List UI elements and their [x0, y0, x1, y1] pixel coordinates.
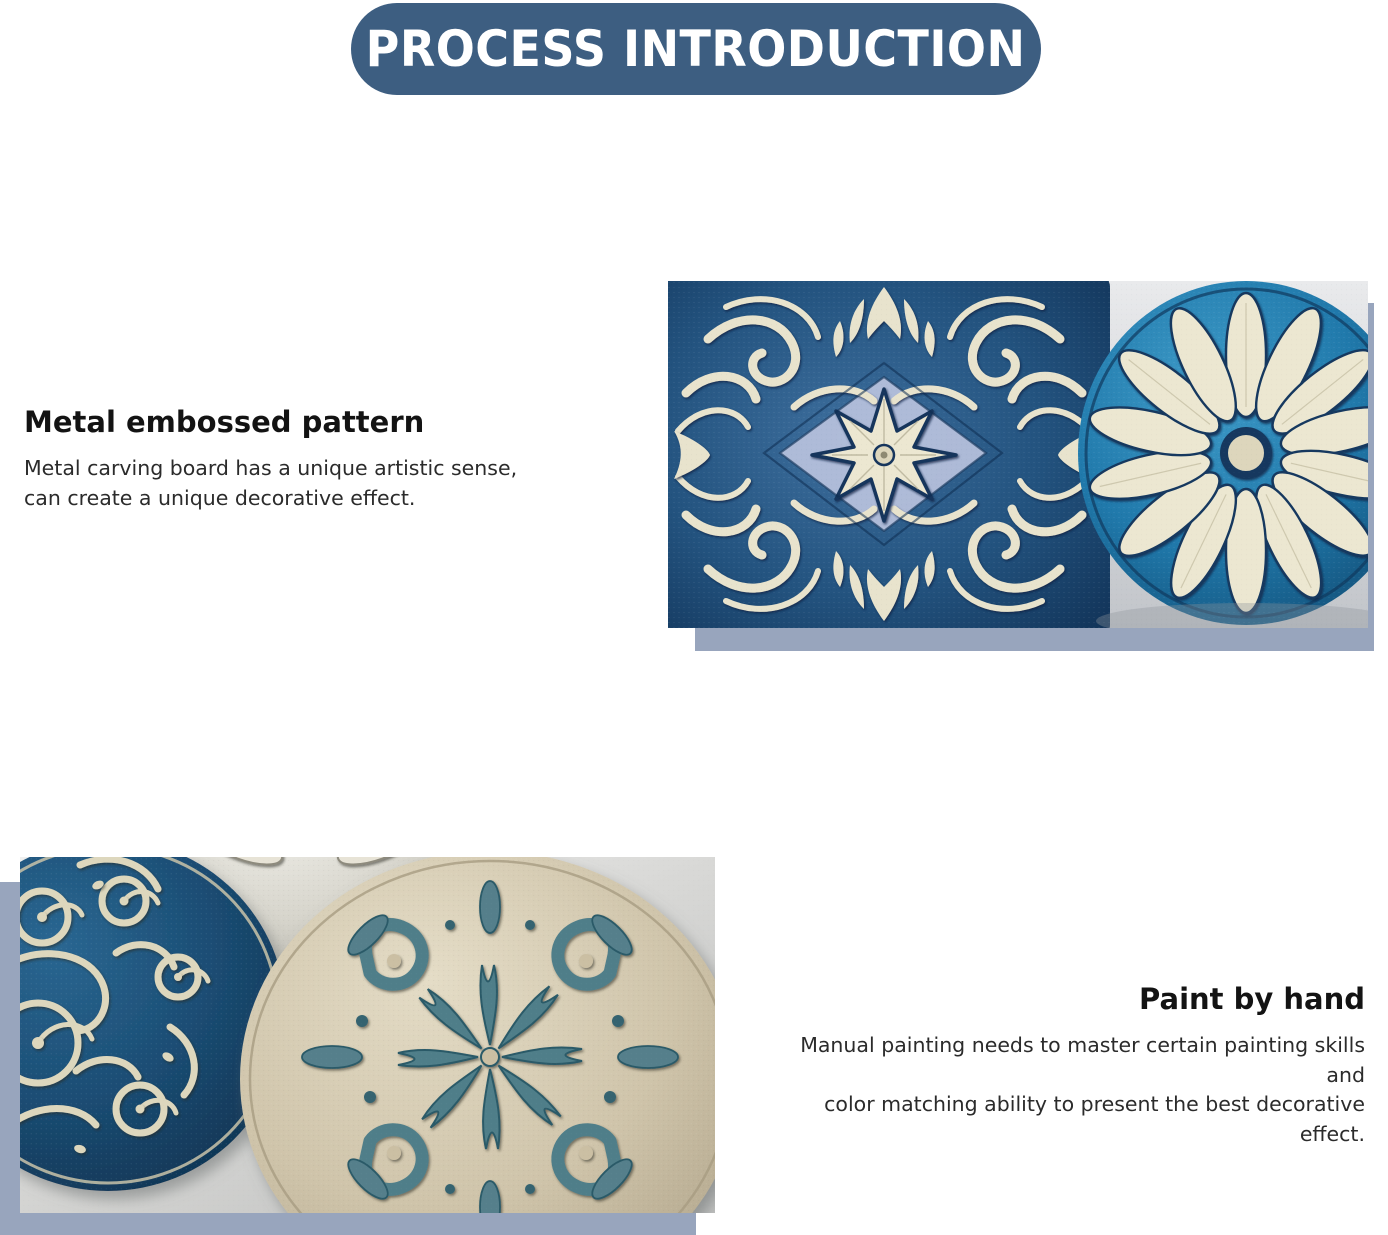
- hand-painted-discs-photo: [20, 857, 715, 1213]
- embossed-blue-tile-photo: [668, 281, 1368, 628]
- section-body-paint-by-hand: Manual painting needs to master certain …: [765, 1031, 1365, 1150]
- section-metal-embossed-pattern-text: Metal embossed pattern Metal carving boa…: [24, 405, 544, 513]
- embossed-blue-tile-artwork: [668, 281, 1368, 628]
- section-heading-metal-embossed-pattern: Metal embossed pattern: [24, 405, 544, 440]
- hand-painted-discs-artwork: [20, 857, 715, 1213]
- figure-paint-by-hand: [0, 857, 715, 1235]
- figure-metal-embossed-pattern: [668, 281, 1374, 651]
- page-title: PROCESS INTRODUCTION: [366, 24, 1026, 74]
- page-title-banner: PROCESS INTRODUCTION: [351, 3, 1041, 95]
- section-body-metal-embossed-pattern: Metal carving board has a unique artisti…: [24, 454, 544, 513]
- section-heading-paint-by-hand: Paint by hand: [765, 982, 1365, 1017]
- section-paint-by-hand-text: Paint by hand Manual painting needs to m…: [765, 982, 1365, 1150]
